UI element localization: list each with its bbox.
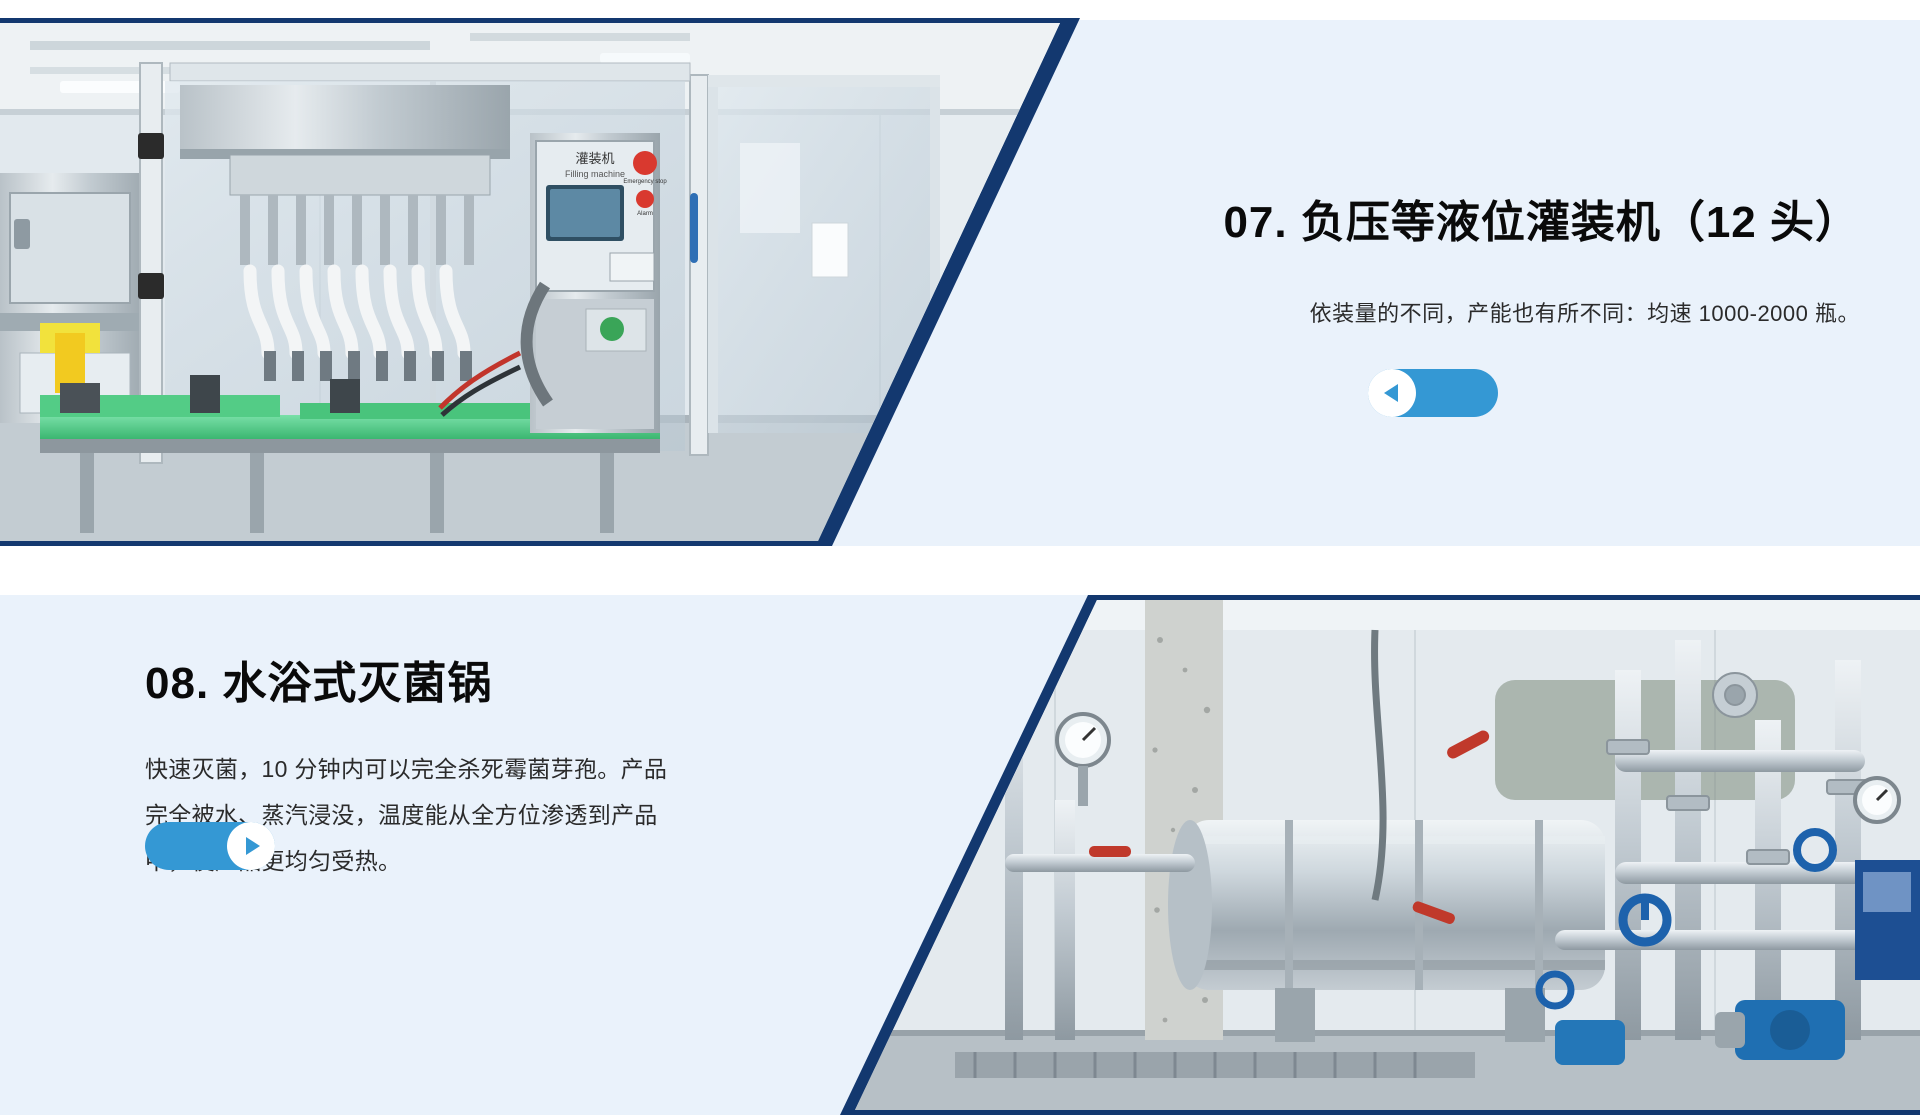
section-08-title: 08. 水浴式灭菌锅 xyxy=(145,656,785,712)
photo-08-sterilizer xyxy=(855,600,1920,1110)
triangle-right-icon xyxy=(246,837,260,855)
section-08: 08. 水浴式灭菌锅 快速灭菌，10 分钟内可以完全杀死霉菌芽孢。产品 完全被水… xyxy=(0,556,1920,1115)
machine-name-cn: 灌装机 xyxy=(575,151,614,166)
prev-button-knob xyxy=(1368,369,1416,417)
section-07-description: 依装量的不同，产能也有所不同：均速 1000-2000 瓶。 xyxy=(960,297,1860,331)
triangle-left-icon xyxy=(1384,384,1398,402)
bottom-white-strip xyxy=(0,556,1920,595)
photo-08-illustration xyxy=(855,600,1920,1110)
prev-button[interactable] xyxy=(1368,369,1498,417)
svg-text:Emergency stop: Emergency stop xyxy=(623,179,667,185)
photo-07-filling-machine: 灌装机 Filling machine Emergency stop Alarm xyxy=(0,23,1065,541)
section-07-title: 07. 负压等液位灌装机（12 头） xyxy=(960,195,1860,251)
section-08-description-line-1: 快速灭菌，10 分钟内可以完全杀死霉菌芽孢。产品 xyxy=(145,746,685,792)
panel-divider-white xyxy=(0,546,1920,556)
section-07: 灌装机 Filling machine Emergency stop Alarm xyxy=(0,0,1920,556)
next-button[interactable] xyxy=(145,822,275,870)
photo-07-illustration: 灌装机 Filling machine Emergency stop Alarm xyxy=(0,23,1065,541)
next-button-knob xyxy=(227,822,275,870)
svg-text:Alarm: Alarm xyxy=(637,211,653,217)
machine-name-en: Filling machine xyxy=(565,169,625,179)
section-07-text: 07. 负压等液位灌装机（12 头） 依装量的不同，产能也有所不同：均速 100… xyxy=(960,195,1860,331)
top-white-strip xyxy=(0,0,1920,20)
product-detail-page: 灌装机 Filling machine Emergency stop Alarm xyxy=(0,0,1920,1115)
